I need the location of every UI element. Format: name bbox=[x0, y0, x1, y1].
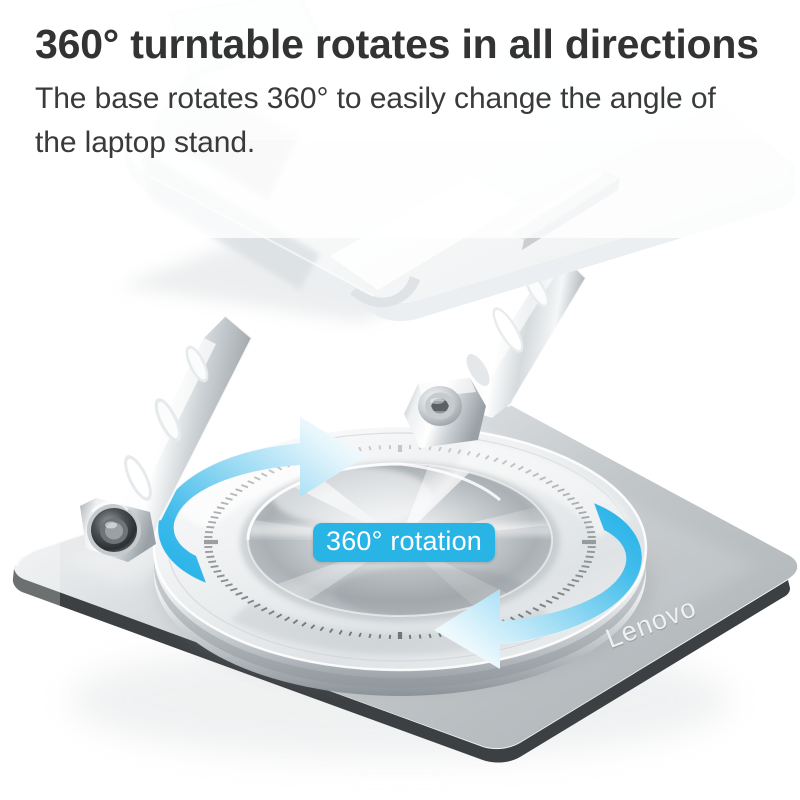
copy-block: 360° turntable rotates in all directions… bbox=[35, 18, 765, 165]
hinge-pivot bbox=[404, 378, 486, 448]
product-feature-image: 360° turntable rotates in all directions… bbox=[0, 0, 800, 800]
status-badge: 360° rotation bbox=[313, 523, 495, 562]
page-subtitle: The base rotates 360° to easily change t… bbox=[35, 77, 765, 165]
page-title: 360° turntable rotates in all directions bbox=[35, 18, 765, 71]
